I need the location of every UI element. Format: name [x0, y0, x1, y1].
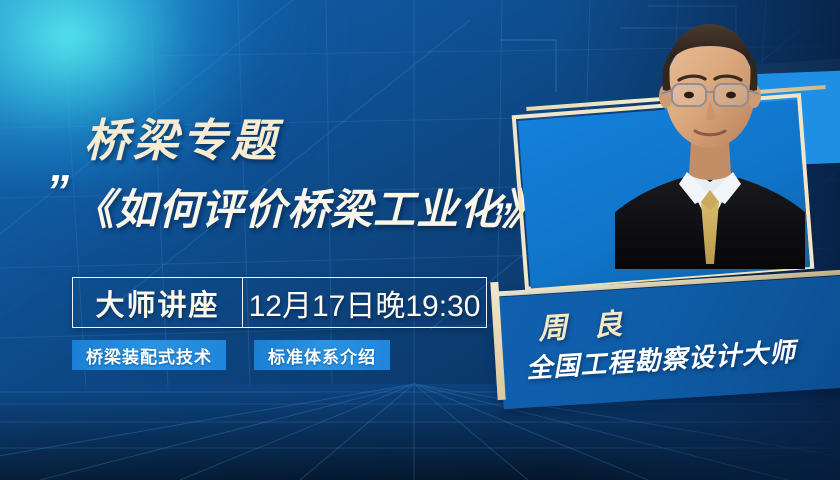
- topic-tag: 桥梁装配式技术: [72, 340, 226, 370]
- lecture-info-box: 大师讲座 12月17日晚19:30: [72, 277, 487, 328]
- speaker-portrait: [615, 14, 805, 269]
- speaker-photo-composition: 周 良 全国工程勘察设计大师: [490, 0, 840, 480]
- lecture-datetime: 12月17日晚19:30: [243, 278, 486, 327]
- lecture-type-label: 大师讲座: [73, 278, 243, 327]
- quote-open-mark: ”: [46, 168, 65, 214]
- topic-tag: 标准体系介绍: [254, 340, 390, 370]
- topic-tag-list: 桥梁装配式技术 标准体系介绍: [72, 340, 390, 370]
- lecture-poster: 桥梁专题 ” 《如何评价桥梁工业化》 ” 大师讲座 12月17日晚19:30 桥…: [0, 0, 840, 480]
- poster-subtitle: 《如何评价桥梁工业化》: [72, 176, 545, 237]
- speaker-name: 周 良: [537, 300, 633, 348]
- poster-main-title: 桥梁专题: [84, 104, 280, 169]
